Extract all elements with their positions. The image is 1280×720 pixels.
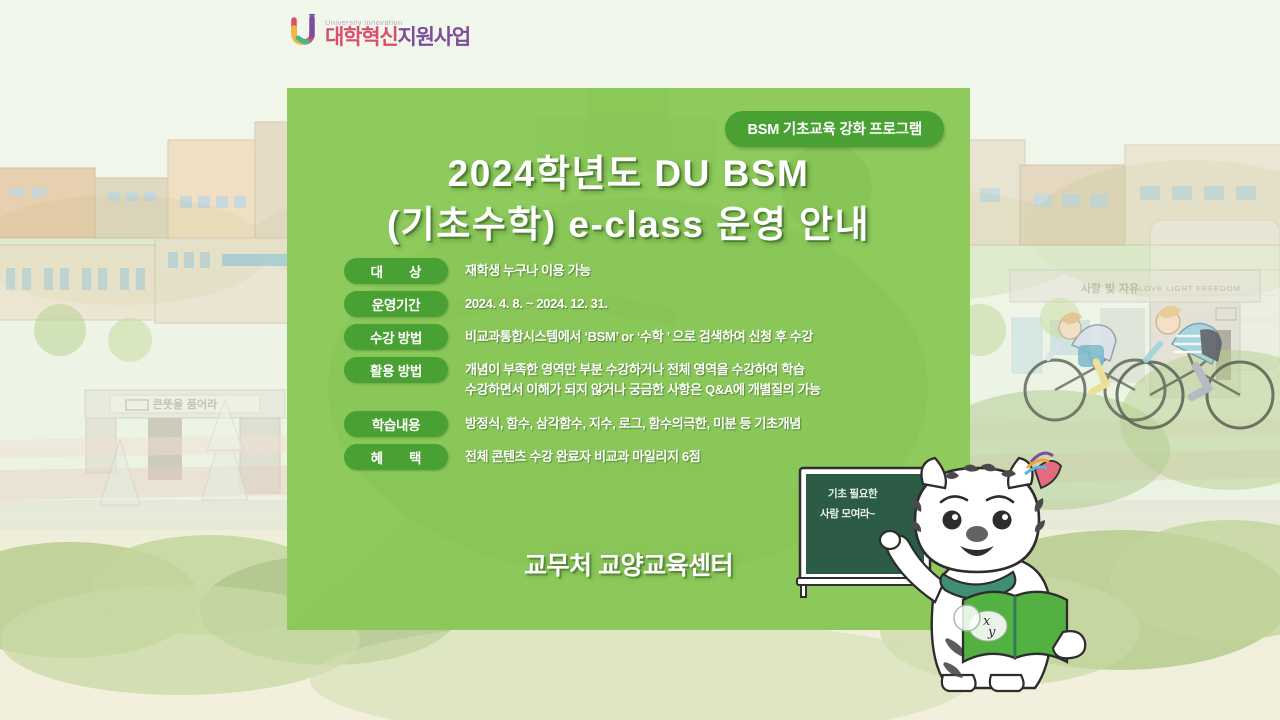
left-gate-sign-text: 큰뜻을 품어라 [153, 397, 218, 411]
row-value-enrollment-method: 비교과통합시스템에서 ‘BSM’ or ‘수학 ’ 으로 검색하여 신청 후 수… [465, 324, 813, 347]
row-label-curriculum: 학습내용 [344, 411, 448, 437]
info-rows: 대상 재학생 누구나 이용 가능 운영기간 2024. 4. 8. ~ 2024… [344, 258, 944, 477]
logo-title-part-b: 지원사업 [397, 26, 469, 49]
math-book: x y [963, 592, 1067, 662]
poster-title-line1: 2024학년도 DU BSM [287, 148, 970, 199]
row-value-curriculum: 방정식, 함수, 삼각함수, 지수, 로그, 함수의극한, 미분 등 기초개념 [465, 411, 801, 434]
table-row: 수강 방법 비교과통합시스템에서 ‘BSM’ or ‘수학 ’ 으로 검색하여 … [344, 324, 944, 350]
logo-title-part-a: 대학혁신 [325, 26, 397, 49]
right-gate-sign-en: LOVE LIGHT FREEDOM [1139, 284, 1241, 293]
u-logo-icon [290, 14, 320, 48]
poster-title-line2: (기초수학) e-class 운영 안내 [287, 199, 970, 250]
program-badge: BSM 기초교육 강화 프로그램 [725, 111, 944, 147]
row-label-target: 대상 [344, 258, 448, 284]
row-label-period: 운영기간 [344, 291, 448, 317]
row-value-target: 재학생 누구나 이용 가능 [465, 258, 591, 281]
table-row: 운영기간 2024. 4. 8. ~ 2024. 12. 31. [344, 291, 944, 317]
tiger-head [911, 453, 1061, 572]
table-row: 활용 방법 개념이 부족한 영역만 부분 수강하거나 전체 영역을 수강하여 학… [344, 357, 944, 400]
row-label-usage-method: 활용 방법 [344, 357, 448, 383]
poster-title: 2024학년도 DU BSM (기초수학) e-class 운영 안내 [287, 148, 970, 250]
book-label-y: y [987, 625, 996, 640]
right-gate-sign-kr: 사랑 빛 자유 [1081, 281, 1139, 295]
white-tiger-mascot: x y [795, 450, 1125, 700]
row-label-benefit: 혜택 [344, 444, 448, 470]
logo-title: 대학혁신지원사업 [325, 27, 470, 48]
table-row: 학습내용 방정식, 함수, 삼각함수, 지수, 로그, 함수의극한, 미분 등 … [344, 411, 944, 437]
table-row: 대상 재학생 누구나 이용 가능 [344, 258, 944, 284]
row-value-benefit: 전체 콘텐츠 수강 완료자 비교과 마일리지 6점 [465, 444, 700, 467]
row-value-period: 2024. 4. 8. ~ 2024. 12. 31. [465, 291, 608, 314]
row-label-enrollment-method: 수강 방법 [344, 324, 448, 350]
row-value-usage-method: 개념이 부족한 영역만 부분 수강하거나 전체 영역을 수강하여 학습 수강하면… [465, 357, 821, 400]
university-innovation-logo: University innovation 대학혁신지원사업 [290, 14, 470, 48]
logo-subtitle: University innovation [325, 19, 470, 27]
